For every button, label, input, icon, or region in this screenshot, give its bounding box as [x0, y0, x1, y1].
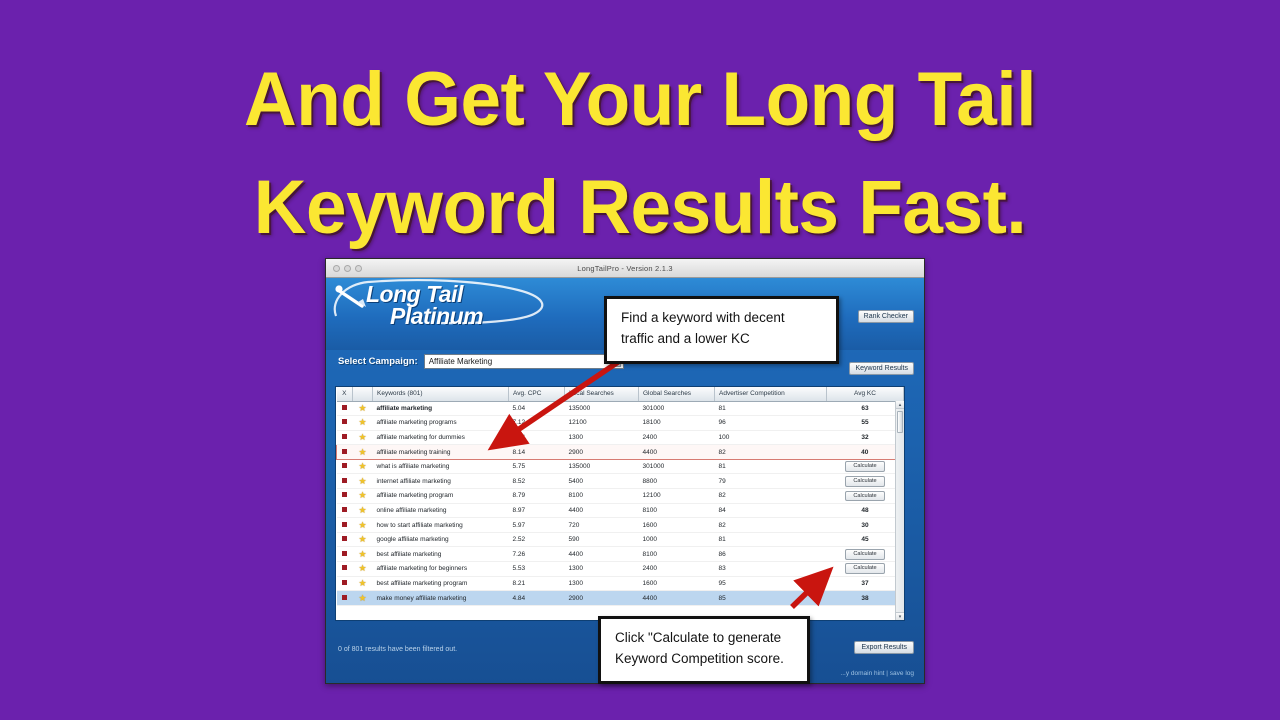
cell-advertiser-competition: 84	[715, 503, 827, 518]
scroll-down-icon[interactable]: ▾	[896, 612, 904, 620]
table-row[interactable]: ★best affiliate marketing7.264400810086C…	[337, 547, 904, 562]
calculate-button[interactable]: Calculate	[827, 547, 904, 562]
scrollbar-thumb[interactable]	[897, 411, 903, 433]
cell-keyword: best affiliate marketing	[373, 547, 509, 562]
favorite-star-icon[interactable]: ★	[353, 503, 373, 518]
cell-avg-cpc: 8.79	[509, 489, 565, 504]
table-header-fav[interactable]	[353, 387, 373, 401]
table-row[interactable]: ★online affiliate marketing8.97440081008…	[337, 503, 904, 518]
table-row[interactable]: ★internet affiliate marketing8.525400880…	[337, 474, 904, 489]
campaign-select[interactable]: Affiliate Marketing ▼	[424, 354, 624, 369]
cell-advertiser-competition: 83	[715, 562, 827, 577]
cell-advertiser-competition: 95	[715, 576, 827, 591]
cell-local-searches: 8100	[565, 489, 639, 504]
campaign-label: Select Campaign:	[338, 356, 418, 367]
callout-calc-line-2: Keyword Competition score.	[615, 649, 795, 670]
cell-avg-cpc: 5.04	[509, 401, 565, 416]
cell-global-searches: 301000	[639, 401, 715, 416]
export-results-button[interactable]: Export Results	[854, 641, 914, 654]
cell-avg-cpc: 2.52	[509, 532, 565, 547]
favorite-star-icon[interactable]: ★	[353, 430, 373, 445]
cell-local-searches: 1300	[565, 430, 639, 445]
window-title: LongTailPro - Version 2.1.3	[326, 264, 924, 273]
cell-keyword: how to start affiliate marketing	[373, 518, 509, 533]
headline-line-1: And Get Your Long Tail	[26, 46, 1255, 154]
table-row[interactable]: ★affiliate marketing programs7.121210018…	[337, 416, 904, 431]
remove-row-icon[interactable]	[337, 503, 353, 518]
cell-global-searches: 2400	[639, 562, 715, 577]
cell-local-searches: 2900	[565, 591, 639, 606]
favorite-star-icon[interactable]: ★	[353, 489, 373, 504]
cell-avg-cpc: 7.26	[509, 547, 565, 562]
remove-row-icon[interactable]	[337, 474, 353, 489]
cell-local-searches: 135000	[565, 401, 639, 416]
favorite-star-icon[interactable]: ★	[353, 445, 373, 460]
cell-keyword: affiliate marketing training	[373, 445, 509, 460]
calculate-button-label[interactable]: Calculate	[845, 476, 884, 487]
cell-avg-kc: 30	[827, 518, 904, 533]
cell-advertiser-competition: 79	[715, 474, 827, 489]
callout-find-line-2: traffic and a lower KC	[621, 329, 824, 350]
table-header-row: XKeywords (801)Avg. CPCLocal SearchesGlo…	[337, 387, 904, 401]
cell-local-searches: 4400	[565, 503, 639, 518]
keyword-table: XKeywords (801)Avg. CPCLocal SearchesGlo…	[336, 387, 904, 606]
table-header-adv[interactable]: Advertiser Competition	[715, 387, 827, 401]
cell-local-searches: 2900	[565, 445, 639, 460]
cell-advertiser-competition: 86	[715, 547, 827, 562]
cell-local-searches: 590	[565, 532, 639, 547]
cell-keyword: online affiliate marketing	[373, 503, 509, 518]
table-row[interactable]: ★best affiliate marketing program8.21130…	[337, 576, 904, 591]
table-body: ★affiliate marketing5.041350003010008163…	[337, 401, 904, 605]
cell-advertiser-competition: 96	[715, 416, 827, 431]
cell-global-searches: 8800	[639, 474, 715, 489]
table-header-cpc[interactable]: Avg. CPC	[509, 387, 565, 401]
cell-advertiser-competition: 82	[715, 489, 827, 504]
footer-links[interactable]: ...y domain hint | save log	[840, 670, 914, 677]
table-header-local[interactable]: Local Searches	[565, 387, 639, 401]
cell-avg-cpc: 8.97	[509, 503, 565, 518]
cell-global-searches: 1600	[639, 518, 715, 533]
cell-keyword: what is affiliate marketing	[373, 459, 509, 474]
cell-avg-kc: 55	[827, 416, 904, 431]
remove-row-icon[interactable]	[337, 489, 353, 504]
cell-local-searches: 1300	[565, 562, 639, 577]
cell-avg-cpc: 8.21	[509, 576, 565, 591]
favorite-star-icon[interactable]: ★	[353, 416, 373, 431]
remove-row-icon[interactable]	[337, 459, 353, 474]
campaign-select-value: Affiliate Marketing	[429, 357, 492, 366]
remove-row-icon[interactable]	[337, 430, 353, 445]
cell-global-searches: 8100	[639, 503, 715, 518]
scroll-up-icon[interactable]: ▴	[896, 401, 904, 409]
cell-local-searches: 5400	[565, 474, 639, 489]
rank-checker-button[interactable]: Rank Checker	[858, 310, 914, 323]
cell-global-searches: 8100	[639, 547, 715, 562]
callout-find-line-1: Find a keyword with decent	[621, 308, 824, 329]
cell-advertiser-competition: 100	[715, 430, 827, 445]
table-row[interactable]: ★google affiliate marketing2.52590100081…	[337, 532, 904, 547]
cell-global-searches: 1000	[639, 532, 715, 547]
cell-avg-kc: 38	[827, 591, 904, 606]
calculate-button[interactable]: Calculate	[827, 489, 904, 504]
cell-global-searches: 2400	[639, 430, 715, 445]
window-titlebar: LongTailPro - Version 2.1.3	[326, 259, 924, 278]
app-logo: Long Tail Platinum	[338, 284, 578, 342]
cell-avg-kc: 63	[827, 401, 904, 416]
cell-keyword: affiliate marketing program	[373, 489, 509, 504]
cell-advertiser-competition: 85	[715, 591, 827, 606]
remove-row-icon[interactable]	[337, 562, 353, 577]
cell-advertiser-competition: 82	[715, 518, 827, 533]
cell-keyword: affiliate marketing	[373, 401, 509, 416]
cell-local-searches: 4400	[565, 547, 639, 562]
cell-avg-kc: 37	[827, 576, 904, 591]
cell-advertiser-competition: 81	[715, 532, 827, 547]
remove-row-icon[interactable]	[337, 518, 353, 533]
remove-row-icon[interactable]	[337, 576, 353, 591]
favorite-star-icon[interactable]: ★	[353, 562, 373, 577]
table-row[interactable]: ★affiliate marketing training8.142900440…	[337, 445, 904, 460]
cell-global-searches: 1600	[639, 576, 715, 591]
logo-line-1: Long Tail	[366, 284, 578, 305]
favorite-star-icon[interactable]: ★	[353, 401, 373, 416]
remove-row-icon[interactable]	[337, 591, 353, 606]
table-scrollbar[interactable]: ▴ ▾	[895, 401, 904, 620]
cell-avg-kc: 40	[827, 445, 904, 460]
favorite-star-icon[interactable]: ★	[353, 459, 373, 474]
table-row[interactable]: ★affiliate marketing for beginners5.5313…	[337, 562, 904, 577]
table-row[interactable]: ★how to start affiliate marketing5.97720…	[337, 518, 904, 533]
cell-keyword: make money affiliate marketing	[373, 591, 509, 606]
cell-local-searches: 135000	[565, 459, 639, 474]
cell-global-searches: 4400	[639, 591, 715, 606]
calculate-button-label[interactable]: Calculate	[845, 563, 884, 574]
callout-find-keyword: Find a keyword with decent traffic and a…	[604, 296, 839, 364]
calculate-button[interactable]: Calculate	[827, 459, 904, 474]
cell-keyword: affiliate marketing for dummies	[373, 430, 509, 445]
table-header-global[interactable]: Global Searches	[639, 387, 715, 401]
page-title: And Get Your Long Tail Keyword Results F…	[26, 46, 1255, 262]
cell-avg-cpc: 8.14	[509, 445, 565, 460]
remove-row-icon[interactable]	[337, 547, 353, 562]
table-row[interactable]: ★what is affiliate marketing5.7513500030…	[337, 459, 904, 474]
cell-avg-cpc: 5.75	[509, 459, 565, 474]
cell-avg-cpc: 7.12	[509, 416, 565, 431]
cell-keyword: best affiliate marketing program	[373, 576, 509, 591]
table-header-kw[interactable]: Keywords (801)	[373, 387, 509, 401]
remove-row-icon[interactable]	[337, 416, 353, 431]
cell-avg-kc: 45	[827, 532, 904, 547]
calculate-button-label[interactable]: Calculate	[845, 491, 884, 502]
cell-global-searches: 12100	[639, 489, 715, 504]
cell-keyword: internet affiliate marketing	[373, 474, 509, 489]
table-header-x[interactable]: X	[337, 387, 353, 401]
favorite-star-icon[interactable]: ★	[353, 576, 373, 591]
favorite-star-icon[interactable]: ★	[353, 547, 373, 562]
cell-local-searches: 720	[565, 518, 639, 533]
table-row[interactable]: ★affiliate marketing program8.7981001210…	[337, 489, 904, 504]
table-row[interactable]: ★affiliate marketing5.041350003010008163	[337, 401, 904, 416]
cell-advertiser-competition: 81	[715, 459, 827, 474]
calculate-button-label[interactable]: Calculate	[845, 549, 884, 560]
table-row[interactable]: ★affiliate marketing for dummies3.761300…	[337, 430, 904, 445]
calculate-button-label[interactable]: Calculate	[845, 461, 884, 472]
remove-row-icon[interactable]	[337, 445, 353, 460]
cell-advertiser-competition: 82	[715, 445, 827, 460]
cell-avg-cpc: 3.76	[509, 430, 565, 445]
table-header-kc[interactable]: Avg KC	[827, 387, 904, 401]
cell-avg-cpc: 5.53	[509, 562, 565, 577]
headline-line-2: Keyword Results Fast.	[26, 154, 1255, 262]
calculate-button[interactable]: Calculate	[827, 474, 904, 489]
cell-keyword: affiliate marketing for beginners	[373, 562, 509, 577]
filtered-results-note: 0 of 801 results have been filtered out.	[338, 646, 457, 653]
favorite-star-icon[interactable]: ★	[353, 518, 373, 533]
cell-local-searches: 12100	[565, 416, 639, 431]
table-row[interactable]: ★make money affiliate marketing4.8429004…	[337, 591, 904, 606]
cell-advertiser-competition: 81	[715, 401, 827, 416]
cell-avg-kc: 48	[827, 503, 904, 518]
cell-global-searches: 18100	[639, 416, 715, 431]
favorite-star-icon[interactable]: ★	[353, 591, 373, 606]
cell-local-searches: 1300	[565, 576, 639, 591]
cell-avg-cpc: 5.97	[509, 518, 565, 533]
remove-row-icon[interactable]	[337, 532, 353, 547]
favorite-star-icon[interactable]: ★	[353, 474, 373, 489]
remove-row-icon[interactable]	[337, 401, 353, 416]
keyword-results-grid: XKeywords (801)Avg. CPCLocal SearchesGlo…	[335, 386, 905, 621]
cell-avg-cpc: 4.84	[509, 591, 565, 606]
cell-avg-cpc: 8.52	[509, 474, 565, 489]
cell-keyword: google affiliate marketing	[373, 532, 509, 547]
logo-line-2: Platinum	[390, 305, 578, 328]
favorite-star-icon[interactable]: ★	[353, 532, 373, 547]
cell-avg-kc: 32	[827, 430, 904, 445]
callout-calc-line-1: Click "Calculate to generate	[615, 628, 795, 649]
cell-keyword: affiliate marketing programs	[373, 416, 509, 431]
cell-global-searches: 4400	[639, 445, 715, 460]
calculate-button[interactable]: Calculate	[827, 562, 904, 577]
callout-click-calculate: Click "Calculate to generate Keyword Com…	[598, 616, 810, 684]
cell-global-searches: 301000	[639, 459, 715, 474]
